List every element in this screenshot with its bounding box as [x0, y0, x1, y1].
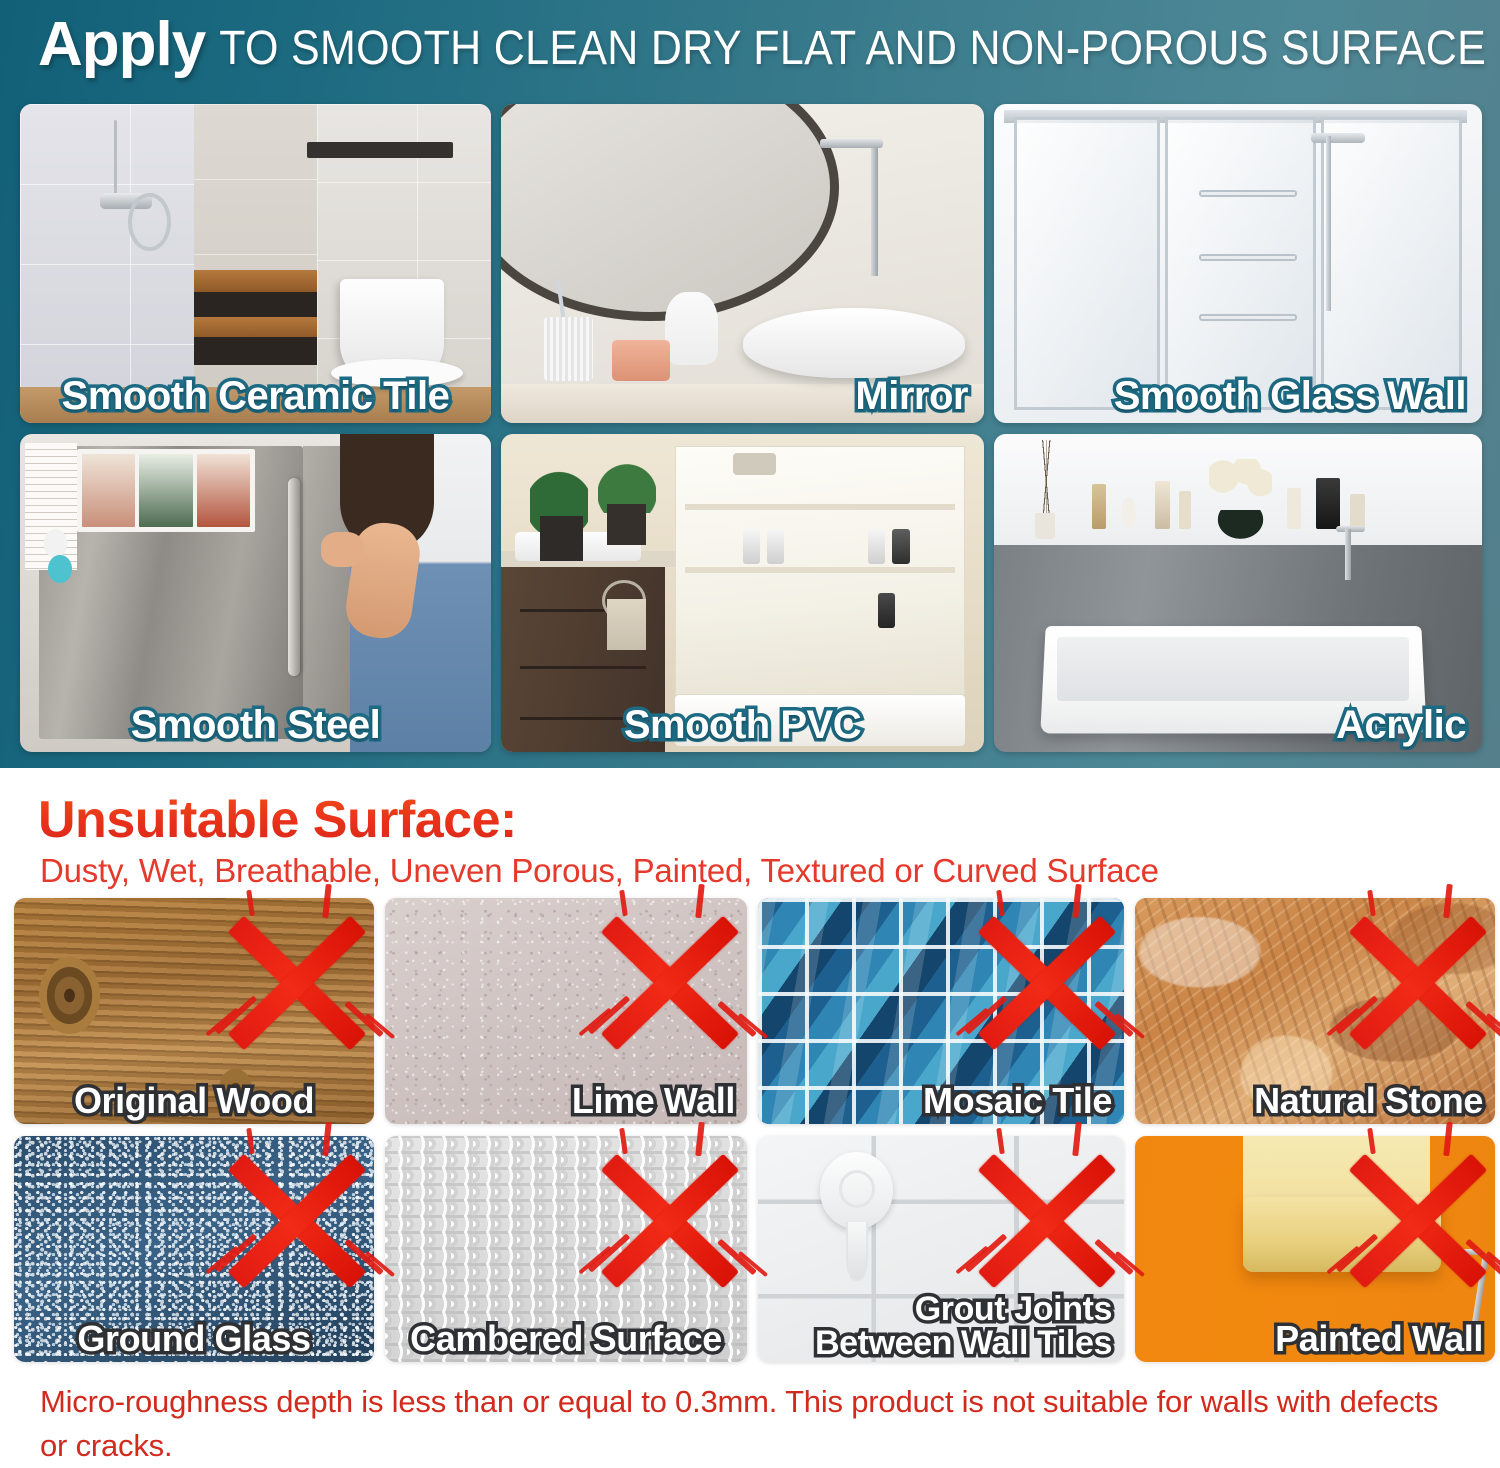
- unsuitable-label-grout-joints-line1: Grout Joints: [770, 1292, 1112, 1326]
- unsuitable-card-lime-wall: Lime Wall: [385, 898, 747, 1124]
- unsuitable-surfaces-section: Unsuitable Surface: Dusty, Wet, Breathab…: [0, 768, 1500, 1463]
- suitable-card-glass-wall: Smooth Glass Wall: [994, 104, 1482, 423]
- suitable-surfaces-section: Apply TO SMOOTH CLEAN DRY FLAT AND NON-P…: [0, 0, 1500, 768]
- unsuitable-card-grout-joints: Grout Joints Between Wall Tiles: [758, 1136, 1124, 1362]
- unsuitable-card-ground-glass: Ground Glass: [14, 1136, 374, 1362]
- suitable-label-acrylic: Acrylic: [994, 704, 1482, 746]
- apply-header-rest: TO SMOOTH CLEAN DRY FLAT AND NON-POROUS …: [219, 25, 1486, 73]
- unsuitable-card-cambered-surface: Cambered Surface: [385, 1136, 747, 1362]
- apply-header: Apply TO SMOOTH CLEAN DRY FLAT AND NON-P…: [38, 14, 1486, 92]
- suitable-card-smooth-steel: Smooth Steel: [20, 434, 491, 753]
- unsuitable-label-mosaic-tile: Mosaic Tile: [758, 1083, 1124, 1120]
- unsuitable-card-natural-stone: Natural Stone: [1135, 898, 1495, 1124]
- unsuitable-label-grout-joints: Grout Joints Between Wall Tiles: [758, 1292, 1124, 1360]
- infographic-page: Apply TO SMOOTH CLEAN DRY FLAT AND NON-P…: [0, 0, 1500, 1463]
- suitable-label-smooth-pvc: Smooth PVC: [501, 704, 984, 746]
- unsuitable-subtitle: Dusty, Wet, Breathable, Uneven Porous, P…: [40, 854, 1159, 887]
- unsuitable-card-mosaic-tile: Mosaic Tile: [758, 898, 1124, 1124]
- unsuitable-label-grout-joints-line2: Between Wall Tiles: [770, 1326, 1112, 1360]
- unsuitable-card-original-wood: Original Wood: [14, 898, 374, 1124]
- unsuitable-label-natural-stone: Natural Stone: [1135, 1083, 1495, 1120]
- suitable-card-smooth-pvc: Smooth PVC: [501, 434, 984, 753]
- suitable-card-ceramic-tile: Smooth Ceramic Tile: [20, 104, 491, 423]
- unsuitable-label-cambered-surface: Cambered Surface: [385, 1321, 747, 1358]
- disclaimer-text: Micro-roughness depth is less than or eq…: [40, 1380, 1460, 1468]
- unsuitable-label-painted-wall: Painted Wall: [1135, 1321, 1495, 1358]
- suitable-card-mirror: Mirror: [501, 104, 984, 423]
- apply-emphasis-word: Apply: [38, 14, 205, 76]
- suitable-surface-grid: Smooth Ceramic Tile Mirror: [20, 104, 1482, 752]
- suitable-card-acrylic: Acrylic: [994, 434, 1482, 753]
- suitable-label-ceramic-tile: Smooth Ceramic Tile: [20, 375, 491, 417]
- unsuitable-title: Unsuitable Surface:: [38, 794, 517, 846]
- unsuitable-card-painted-wall: Painted Wall: [1135, 1136, 1495, 1362]
- suitable-label-smooth-steel: Smooth Steel: [20, 704, 491, 746]
- unsuitable-surface-grid: Original Wood Lime Wall: [14, 898, 1486, 1362]
- unsuitable-label-lime-wall: Lime Wall: [385, 1083, 747, 1120]
- unsuitable-label-original-wood: Original Wood: [14, 1083, 374, 1120]
- suitable-label-mirror: Mirror: [501, 375, 984, 417]
- suitable-label-glass-wall: Smooth Glass Wall: [994, 375, 1482, 417]
- unsuitable-label-ground-glass: Ground Glass: [14, 1321, 374, 1358]
